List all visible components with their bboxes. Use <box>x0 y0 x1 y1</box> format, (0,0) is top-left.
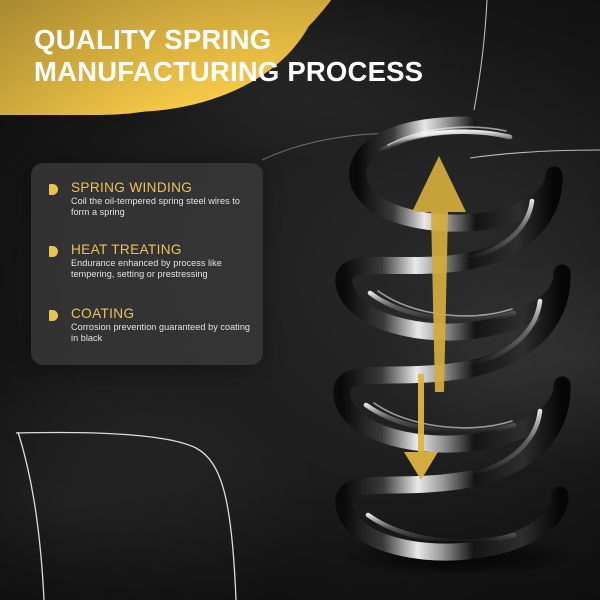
step-description: Coil the oil-tempered spring steel wires… <box>71 196 255 218</box>
step-heading: HEAT TREATING <box>71 242 255 257</box>
bullet-marker-icon <box>49 310 58 321</box>
bullet-marker-icon <box>49 246 58 257</box>
bullet-marker-icon <box>49 184 58 195</box>
compression-arrow-down-icon <box>404 374 438 480</box>
process-steps-card: SPRING WINDING Coil the oil-tempered spr… <box>31 163 263 365</box>
list-item-spring-winding: SPRING WINDING Coil the oil-tempered spr… <box>49 180 255 218</box>
title-line-1: QUALITY SPRING <box>34 24 564 56</box>
step-description: Corrosion prevention guaranteed by coati… <box>71 322 255 344</box>
list-item-heat-treating: HEAT TREATING Endurance enhanced by proc… <box>49 242 255 280</box>
step-heading: SPRING WINDING <box>71 180 255 195</box>
compression-arrow-up-icon <box>412 156 466 392</box>
infographic-canvas: QUALITY SPRING MANUFACTURING PROCESS SPR… <box>0 0 600 600</box>
step-heading: COATING <box>71 306 255 321</box>
list-item-coating: COATING Corrosion prevention guaranteed … <box>49 306 255 344</box>
step-description: Endurance enhanced by process like tempe… <box>71 258 255 280</box>
title-line-2: MANUFACTURING PROCESS <box>34 56 564 88</box>
page-title: QUALITY SPRING MANUFACTURING PROCESS <box>34 24 564 88</box>
